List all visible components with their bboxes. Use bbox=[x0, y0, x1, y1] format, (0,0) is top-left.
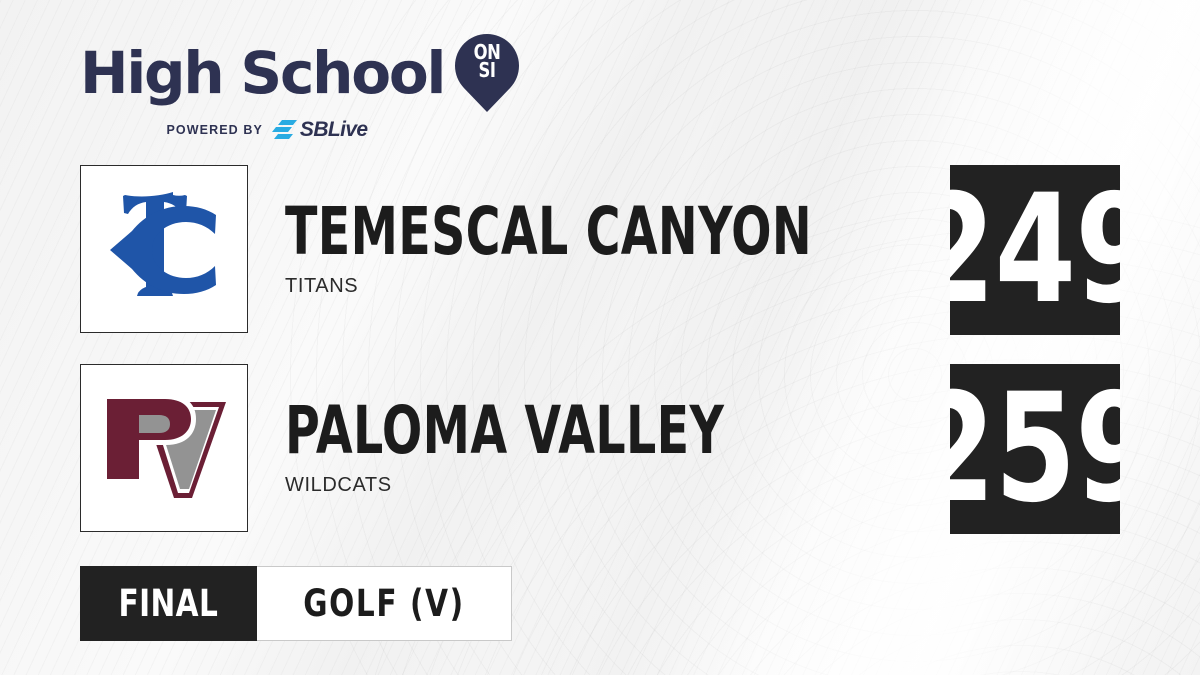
team-mascot-away: WILDCATS bbox=[285, 474, 895, 497]
sblive-wordmark: SBLive bbox=[300, 119, 368, 140]
pv-monogram-icon bbox=[98, 388, 230, 508]
pin-line-si: SI bbox=[460, 61, 514, 79]
team-name-home: TEMESCAL CANYON bbox=[285, 202, 812, 263]
game-state-label: FINAL bbox=[118, 582, 218, 625]
team-row-home: TEMESCAL CANYON TITANS 249 bbox=[80, 165, 1120, 335]
team-text-away: PALOMA VALLEY WILDCATS bbox=[285, 364, 895, 534]
game-state-badge: FINAL bbox=[80, 566, 257, 641]
brand-wordmark: High School bbox=[80, 44, 444, 102]
tc-monogram-icon bbox=[100, 190, 228, 308]
score-box-away: 259 bbox=[950, 364, 1120, 534]
team-logo-paloma-valley bbox=[80, 364, 248, 532]
sport-label-panel: GOLF (V) bbox=[257, 566, 512, 641]
brand-wordmark-row: High School ON SI bbox=[80, 34, 510, 112]
team-mascot-home: TITANS bbox=[285, 275, 1017, 298]
powered-by-label: POWERED BY bbox=[166, 123, 262, 137]
sblive-light: ive bbox=[340, 118, 367, 141]
team-logo-temescal-canyon bbox=[80, 165, 248, 333]
status-bar: FINAL GOLF (V) bbox=[80, 566, 512, 641]
brand-logo-lockup: High School ON SI POWERED BY SBLive bbox=[80, 34, 510, 140]
on-si-pin-text: ON SI bbox=[454, 43, 520, 79]
score-value-home: 249 bbox=[950, 175, 1120, 325]
scoreboard-graphic: High School ON SI POWERED BY SBLive bbox=[0, 0, 1200, 675]
on-si-pin-icon: ON SI bbox=[454, 34, 520, 112]
team-row-away: PALOMA VALLEY WILDCATS 259 bbox=[80, 364, 1120, 534]
powered-by-row: POWERED BY SBLive bbox=[80, 119, 510, 140]
score-value-away: 259 bbox=[950, 374, 1120, 524]
sblive-chevron-icon bbox=[272, 120, 298, 139]
sblive-bold: SBL bbox=[300, 118, 340, 141]
team-name-away: PALOMA VALLEY bbox=[285, 401, 724, 462]
team-text-home: TEMESCAL CANYON TITANS bbox=[285, 165, 1017, 335]
score-box-home: 249 bbox=[950, 165, 1120, 335]
sblive-logo: SBLive bbox=[272, 119, 368, 140]
sport-label: GOLF (V) bbox=[303, 582, 465, 625]
